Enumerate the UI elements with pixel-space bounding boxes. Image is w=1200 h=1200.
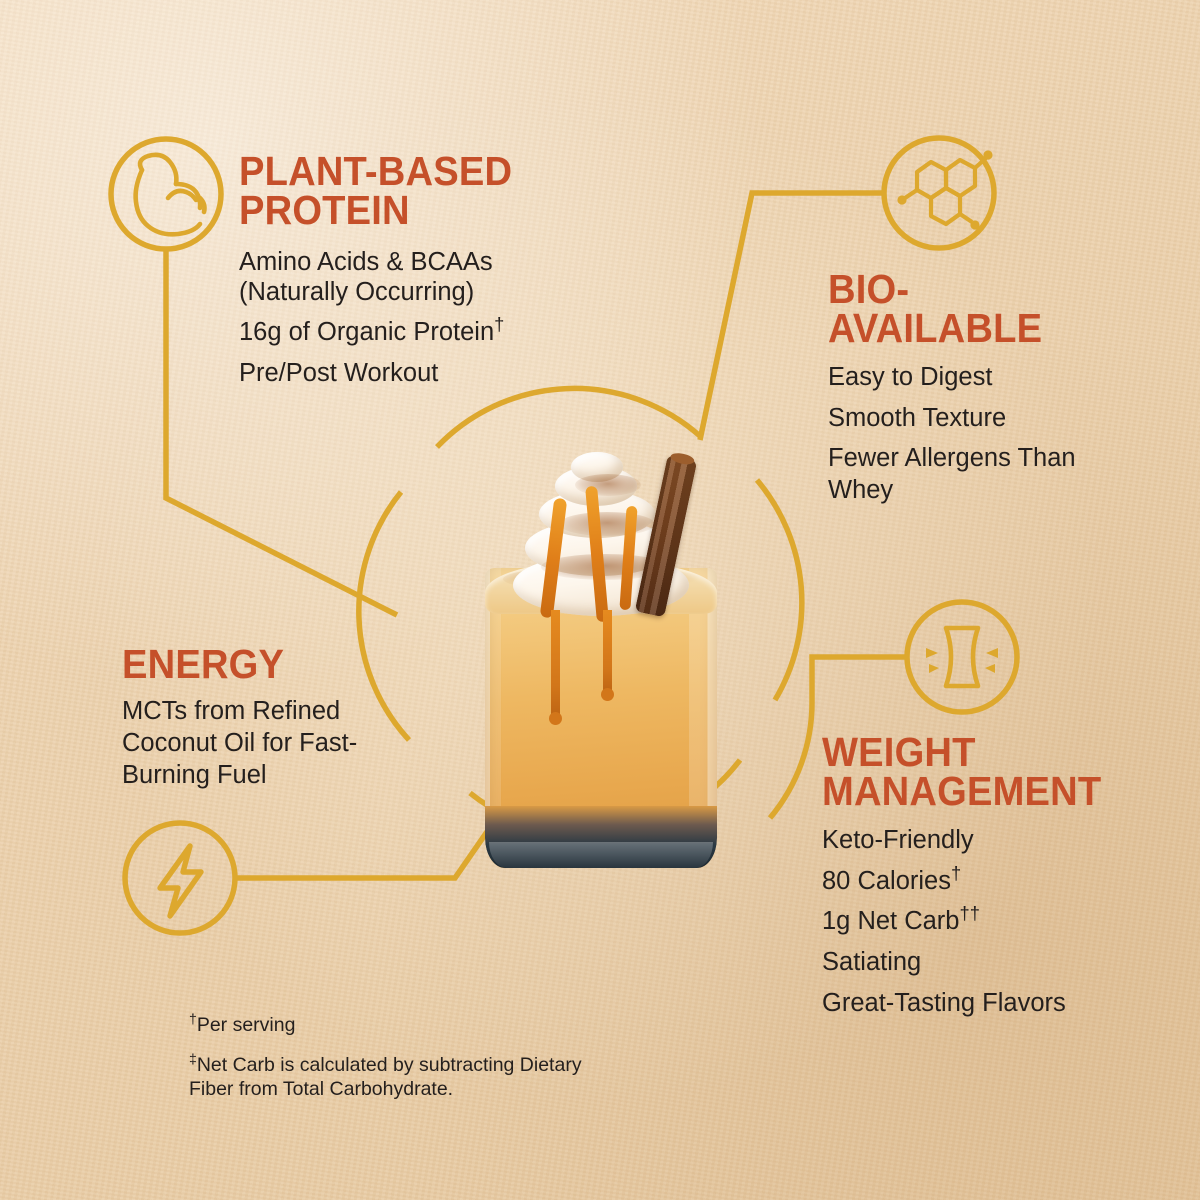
cinnamon-dust <box>559 512 655 536</box>
feature-heading: PLANT-BASED PROTEIN <box>239 152 555 231</box>
feature-heading: BIO-AVAILABLE <box>828 270 1107 349</box>
feature-block-bio-available: BIO-AVAILABLE Easy to Digest Smooth Text… <box>828 270 1128 507</box>
feature-line: Keto-Friendly <box>822 825 1122 857</box>
feature-line: Pre/Post Workout <box>239 358 579 390</box>
feature-line: 80 Calories† <box>822 866 1122 898</box>
feature-line: Amino Acids & BCAAs <box>239 247 579 279</box>
feature-line: Great-Tasting Flavors <box>822 988 1122 1020</box>
feature-body: Easy to Digest Smooth Texture Fewer Alle… <box>828 362 1128 508</box>
feature-line: Smooth Texture <box>828 403 1128 435</box>
feature-block-plant-based-protein: PLANT-BASED PROTEIN Amino Acids & BCAAs … <box>239 152 579 390</box>
feature-line: 1g Net Carb†† <box>822 906 1122 938</box>
lightning-bolt-icon <box>160 846 201 916</box>
footnote-marker: ‡ <box>189 1050 197 1066</box>
footnote-marker: † <box>189 1011 197 1027</box>
feature-heading: WEIGHT MANAGEMENT <box>822 733 1101 812</box>
infographic-poster: PLANT-BASED PROTEIN Amino Acids & BCAAs … <box>0 0 1200 1200</box>
iced-latte-glass-image <box>455 450 745 870</box>
connector-weight <box>812 657 905 700</box>
feature-line: 16g of Organic Protein† <box>239 317 579 349</box>
footnote-marker: † <box>951 862 961 883</box>
feature-body: Keto-Friendly 80 Calories† 1g Net Carb††… <box>822 825 1122 1020</box>
flexed-bicep-icon <box>136 155 205 234</box>
feature-heading: ENERGY <box>122 645 401 684</box>
feature-line: MCTs from Refined Coconut Oil for Fast-B… <box>122 696 422 792</box>
footnote-marker: †† <box>960 903 980 924</box>
feature-block-energy: ENERGY MCTs from Refined Coconut Oil for… <box>122 645 422 792</box>
footnotes: †Per serving ‡Net Carb is calculated by … <box>189 1014 609 1101</box>
connector-weight-curve <box>770 700 812 818</box>
center-ring-arc-top <box>437 388 700 447</box>
slim-waist-icon <box>926 628 998 686</box>
weight-icon-circle <box>907 602 1017 712</box>
feature-block-weight-management: WEIGHT MANAGEMENT Keto-Friendly 80 Calor… <box>822 733 1122 1020</box>
feature-line: Easy to Digest <box>828 362 1128 394</box>
footnote-item: †Per serving <box>189 1014 609 1038</box>
feature-body: MCTs from Refined Coconut Oil for Fast-B… <box>122 696 422 792</box>
feature-line: Satiating <box>822 947 1122 979</box>
center-ring-arc-right <box>757 480 802 700</box>
glass-base-highlight <box>489 842 713 868</box>
footnote-marker: † <box>494 314 504 335</box>
molecule-icon <box>897 150 992 229</box>
feature-line: (Naturally Occurring) <box>239 277 579 309</box>
energy-icon-circle <box>125 823 235 933</box>
feature-body: Amino Acids & BCAAs (Naturally Occurring… <box>239 247 579 391</box>
caramel-drip <box>551 610 560 718</box>
feature-line: Fewer Allergens Than Whey <box>828 443 1128 507</box>
footnote-item: ‡Net Carb is calculated by subtracting D… <box>189 1054 609 1102</box>
caramel-drip <box>603 610 612 694</box>
